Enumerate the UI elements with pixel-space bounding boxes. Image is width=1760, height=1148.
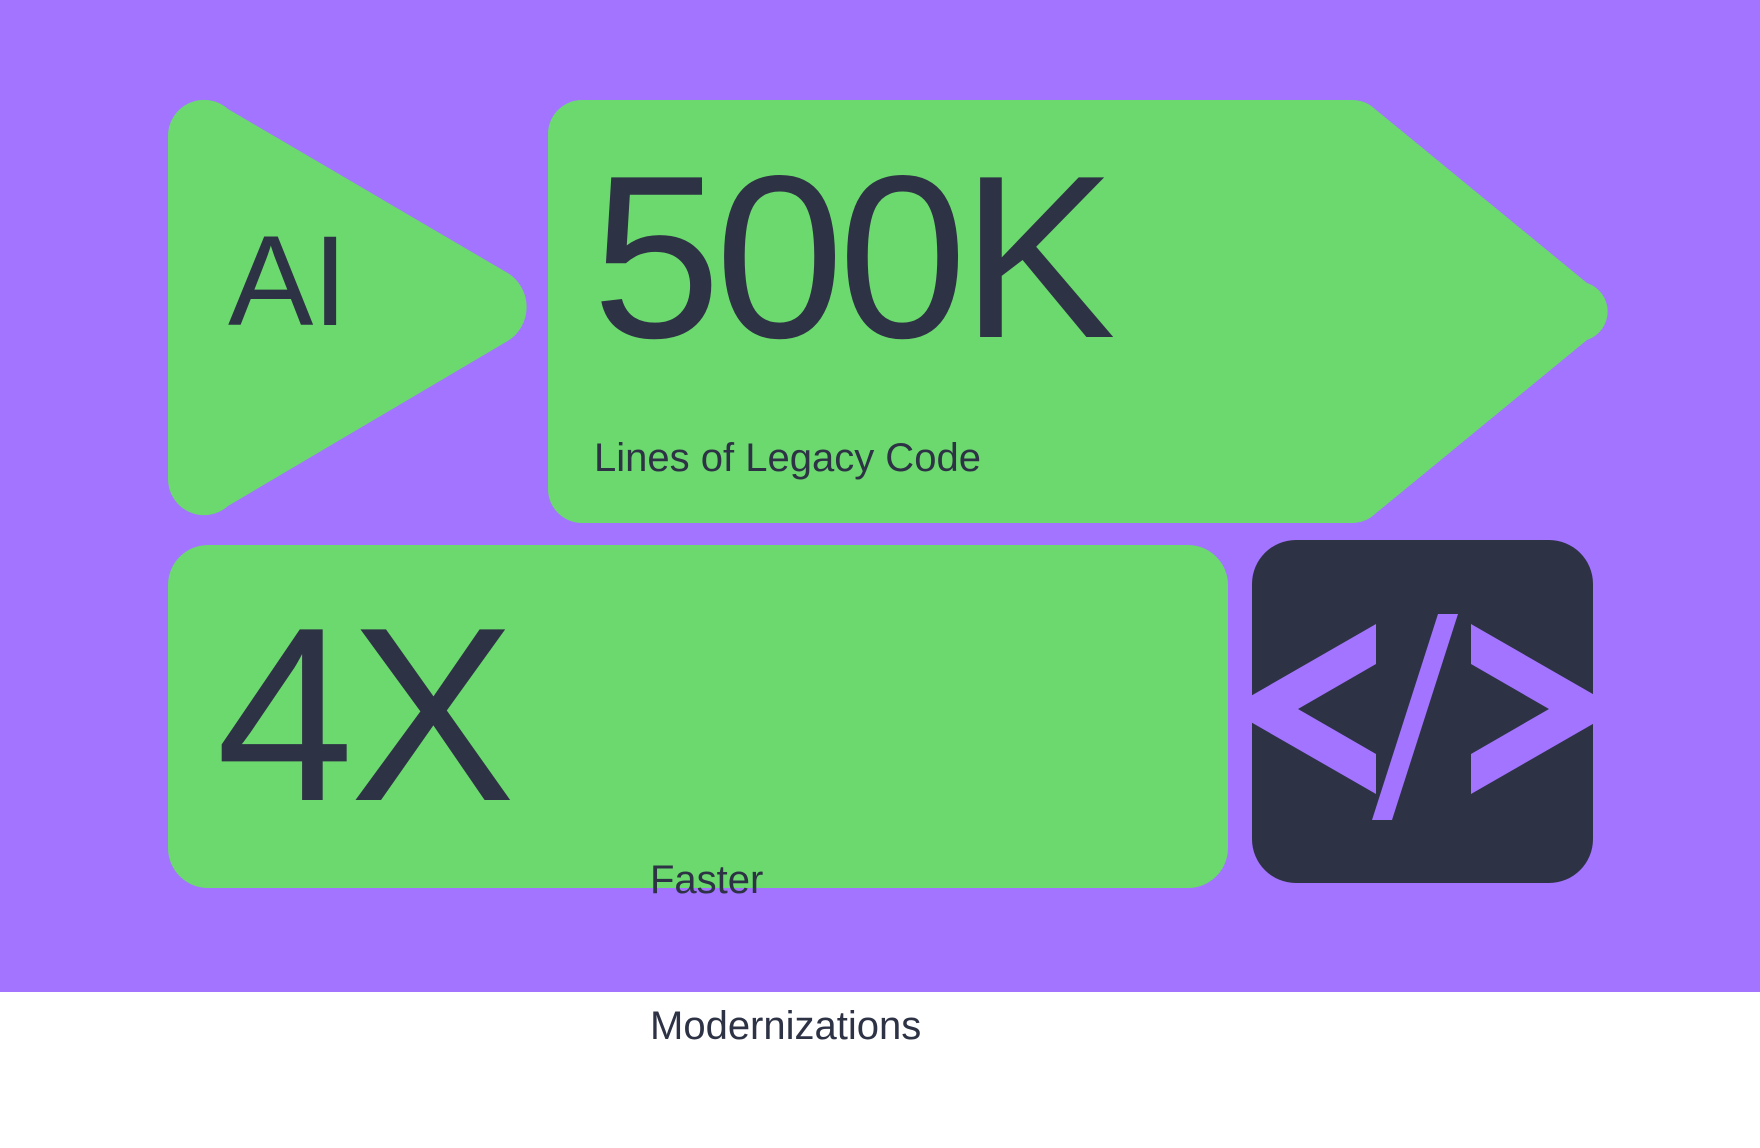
- ai-play-triangle-shape: [168, 100, 527, 515]
- stat-caption-modernizations-line-2: Modernizations: [650, 1002, 921, 1051]
- infographic-root: AI 500K Lines of Legacy Code 4X Faster M…: [0, 0, 1760, 992]
- stat-caption-modernizations-line-1: Faster: [650, 856, 921, 905]
- stat-value-legacy-code: 500K: [592, 142, 1110, 374]
- ai-badge-label: AI: [228, 218, 347, 346]
- stat-value-modernizations: 4X: [216, 590, 511, 838]
- stat-caption-legacy-code: Lines of Legacy Code: [594, 438, 981, 478]
- stat-caption-modernizations: Faster Modernizations: [650, 758, 921, 1148]
